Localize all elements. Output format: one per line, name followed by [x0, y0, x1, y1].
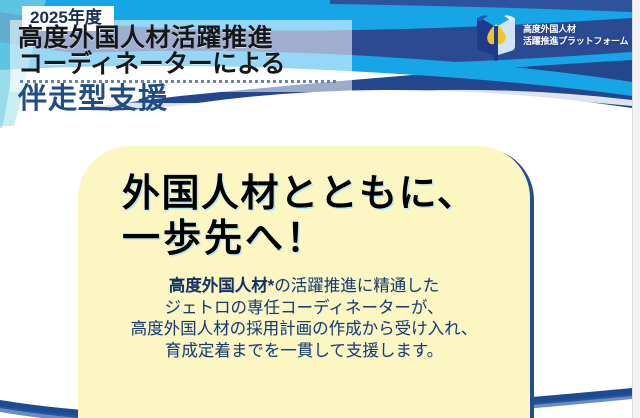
title-dotted-divider	[20, 80, 336, 83]
slide-canvas: 2025年度 高度外国人材活躍推進 コーディネーターによる 伴走型支援	[0, 0, 640, 418]
panel-body-line-1-emphasis: 高度外国人材*	[169, 277, 274, 295]
panel-body-line-2: ジェトロの専任コーディネーターが、	[92, 298, 516, 319]
panel-body-line-3: 高度外国人材の採用計画の作成から受け入れ、	[92, 319, 516, 340]
panel-body-line-1-rest: の活躍推進に精通した	[274, 277, 439, 295]
panel-body-copy: 高度外国人材*の活躍推進に精通した ジェトロの専任コーディネーターが、 高度外国…	[92, 276, 516, 362]
platform-logo-text-line-2: 活躍推進プラットフォーム	[523, 36, 628, 46]
panel-body-line-1: 高度外国人材*の活躍推進に精通した	[92, 276, 516, 297]
panel-headline-line-1: 外国人材とともに、	[122, 172, 516, 217]
panel-body-line-4: 育成定着までを一貫して支援します。	[92, 341, 516, 362]
panel-headline-line-2: 一歩先へ！	[122, 217, 516, 262]
panel-headline: 外国人材とともに、 一歩先へ！	[92, 172, 516, 262]
platform-logo-text-line-1: 高度外国人材	[523, 24, 576, 34]
header-title-line-3: 伴走型支援	[18, 84, 348, 115]
header-title-block: 高度外国人材活躍推進 コーディネーターによる 伴走型支援	[18, 26, 348, 115]
open-book-platform-logo-icon	[472, 10, 520, 62]
platform-logo-text: 高度外国人材 活躍推進プラットフォーム	[523, 24, 628, 47]
page-edge-strip	[632, 0, 640, 418]
platform-logo: 高度外国人材 活躍推進プラットフォーム	[472, 10, 628, 62]
header-title-line-2: コーディネーターによる	[18, 52, 348, 78]
header-title-line-1: 高度外国人材活躍推進	[18, 26, 348, 52]
message-panel: 外国人材とともに、 一歩先へ！ 高度外国人材*の活躍推進に精通した ジェトロの専…	[78, 146, 530, 418]
